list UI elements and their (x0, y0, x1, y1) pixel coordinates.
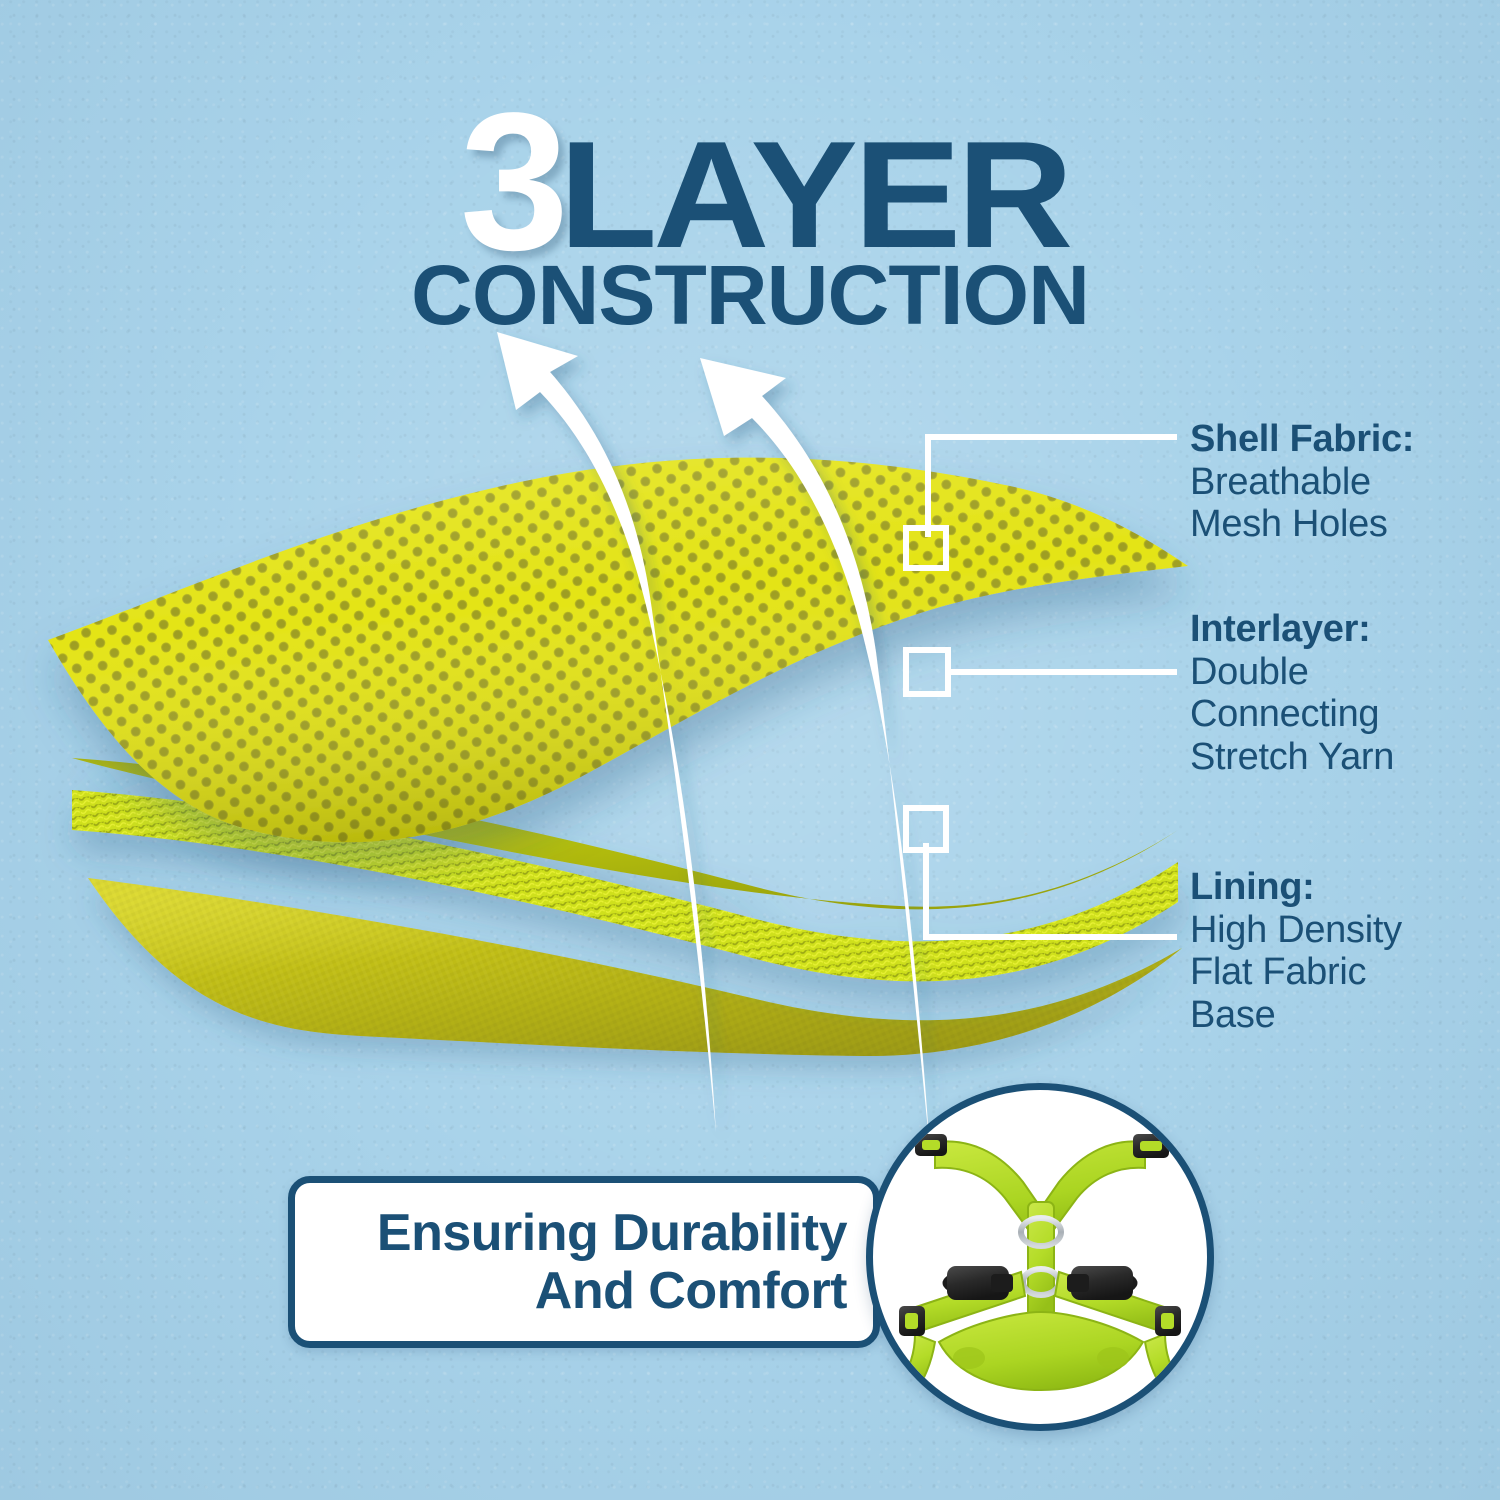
callout-lining: Lining: High Density Flat Fabric Base (1190, 866, 1402, 1036)
connector-line-shell (928, 437, 1174, 534)
callout-lining-title: Lining: (1190, 866, 1402, 909)
tagline-line-1: Ensuring Durability (377, 1204, 847, 1262)
callout-shell-title: Shell Fabric: (1190, 418, 1414, 461)
tagline-text: Ensuring Durability And Comfort (377, 1204, 847, 1320)
tagline-banner: Ensuring Durability And Comfort (288, 1176, 880, 1348)
callout-interlayer-line-2: Connecting (1190, 693, 1394, 736)
callout-shell-line-1: Breathable (1190, 461, 1414, 504)
callout-lining-line-3: Base (1190, 994, 1402, 1037)
callout-interlayer-line-1: Double (1190, 651, 1394, 694)
callout-interlayer-title: Interlayer: (1190, 608, 1394, 651)
callout-lining-line-2: Flat Fabric (1190, 951, 1402, 994)
callout-shell-fabric: Shell Fabric: Breathable Mesh Holes (1190, 418, 1414, 546)
tagline-line-2: And Comfort (377, 1262, 847, 1320)
dog-harness-illustration (873, 1090, 1207, 1424)
infographic-canvas: 3 LAYER CONSTRUCTION (0, 0, 1500, 1500)
side-release-buckle-right (1067, 1266, 1138, 1300)
callout-lining-line-1: High Density (1190, 909, 1402, 952)
harness-left-lower-loop (899, 1334, 935, 1390)
connector-line-lining (926, 846, 1174, 937)
pad-stitch-right (1097, 1347, 1129, 1369)
callout-interlayer-line-3: Stretch Yarn (1190, 736, 1394, 779)
harness-right-lower-loop (1145, 1334, 1181, 1390)
pad-stitch-left (953, 1347, 985, 1369)
callout-shell-line-2: Mesh Holes (1190, 503, 1414, 546)
callout-interlayer: Interlayer: Double Connecting Stretch Ya… (1190, 608, 1394, 778)
side-release-buckle-left (943, 1266, 1014, 1300)
product-photo-circle (866, 1083, 1214, 1431)
callout-marker-interlayer (906, 650, 948, 694)
